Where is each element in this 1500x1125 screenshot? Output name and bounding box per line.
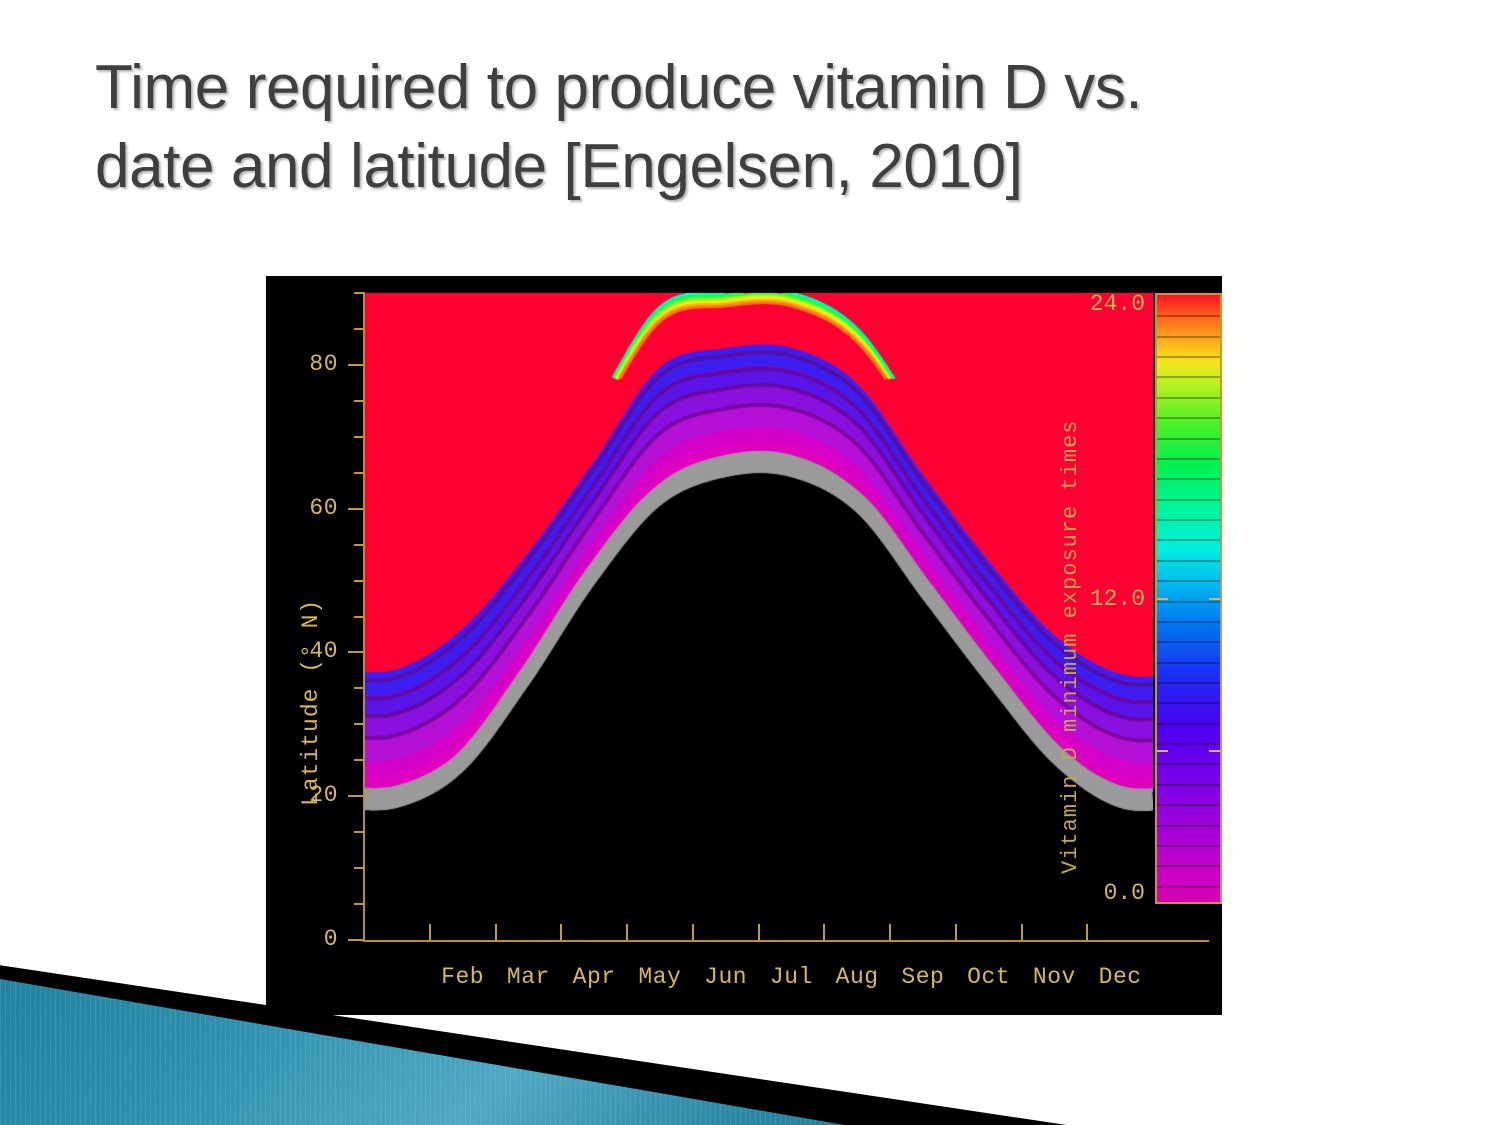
colorbar-level-line xyxy=(1157,723,1220,725)
colorbar-level-line xyxy=(1157,743,1220,745)
y-axis-major-tick xyxy=(348,939,364,941)
colorbar-tick xyxy=(1209,598,1220,600)
colorbar-level-line xyxy=(1157,784,1220,786)
y-axis-major-tick xyxy=(348,651,364,653)
colorbar-level-line xyxy=(1157,804,1220,806)
colorbar-level-line xyxy=(1157,621,1220,623)
y-axis-tick-label: 80 xyxy=(266,351,338,377)
colorbar-level-line xyxy=(1157,682,1220,684)
contour-field-canvas xyxy=(364,293,1153,940)
colorbar-level-line xyxy=(1157,499,1220,501)
x-axis-major-tick xyxy=(626,924,628,941)
x-axis-major-tick xyxy=(1021,924,1023,941)
colorbar-level-line xyxy=(1157,601,1220,603)
y-axis-major-tick xyxy=(348,364,364,366)
y-axis-minor-tick xyxy=(354,580,364,582)
x-axis-major-tick xyxy=(758,924,760,941)
y-axis-minor-tick xyxy=(354,544,364,546)
colorbar-level-line xyxy=(1157,417,1220,419)
colorbar-level-line xyxy=(1157,539,1220,541)
x-axis-tick-label: Dec xyxy=(1075,964,1165,990)
y-axis-minor-tick xyxy=(354,759,364,761)
colorbar-tick-label: 12.0 xyxy=(1025,586,1145,612)
y-axis-minor-tick xyxy=(354,400,364,402)
y-axis-minor-tick xyxy=(354,831,364,833)
colorbar-level-line xyxy=(1157,865,1220,867)
y-axis-tick-label: 0 xyxy=(266,926,338,952)
colorbar-title: Vitamin D minimum exposure times xyxy=(1058,420,1083,874)
x-axis-line xyxy=(363,940,1209,942)
y-axis-minor-tick xyxy=(354,867,364,869)
colorbar-level-line xyxy=(1157,845,1220,847)
colorbar-tick xyxy=(1157,750,1168,752)
y-axis-minor-tick xyxy=(354,723,364,725)
colorbar-level-line xyxy=(1157,763,1220,765)
contour-plot-area xyxy=(364,293,1153,940)
colorbar-level-line xyxy=(1157,825,1220,827)
presentation-slide: Time required to produce vitamin D vs. d… xyxy=(0,0,1500,1125)
y-axis-minor-tick xyxy=(354,687,364,689)
x-axis-major-tick xyxy=(560,924,562,941)
page-title: Time required to produce vitamin D vs. d… xyxy=(95,48,1425,207)
x-axis-major-tick xyxy=(495,924,497,941)
y-axis-title: Latitude (° N) xyxy=(298,599,324,806)
x-axis-major-tick xyxy=(1086,924,1088,941)
y-axis-major-tick xyxy=(348,795,364,797)
colorbar-level-line xyxy=(1157,438,1220,440)
colorbar-level-line xyxy=(1157,478,1220,480)
colorbar-tick-label: 24.0 xyxy=(1025,291,1145,317)
x-axis-major-tick xyxy=(429,924,431,941)
x-axis-major-tick xyxy=(692,924,694,941)
x-axis-major-tick xyxy=(955,924,957,941)
colorbar-level-line xyxy=(1157,662,1220,664)
y-axis-major-tick xyxy=(348,508,364,510)
y-axis-minor-tick xyxy=(354,328,364,330)
y-axis-minor-tick xyxy=(354,903,364,905)
colorbar-level-line xyxy=(1157,315,1220,317)
x-axis-major-tick xyxy=(823,924,825,941)
colorbar-level-line xyxy=(1157,336,1220,338)
colorbar-level-line xyxy=(1157,560,1220,562)
colorbar-level-line xyxy=(1157,641,1220,643)
colorbar-level-line xyxy=(1157,519,1220,521)
colorbar-tick xyxy=(1209,750,1220,752)
vitamin-d-contour-figure: 020406080 FebMarAprMayJunJulAugSepOctNov… xyxy=(266,276,1222,1015)
colorbar-tick-label: 0.0 xyxy=(1025,880,1145,906)
x-axis-major-tick xyxy=(889,924,891,941)
y-axis-minor-tick xyxy=(354,436,364,438)
y-axis-minor-tick xyxy=(354,292,364,294)
colorbar-level-line xyxy=(1157,702,1220,704)
y-axis-tick-label: 60 xyxy=(266,495,338,521)
colorbar-level-line xyxy=(1157,458,1220,460)
y-axis-minor-tick xyxy=(354,616,364,618)
colorbar-tick xyxy=(1157,598,1168,600)
colorbar-level-line xyxy=(1157,356,1220,358)
colorbar-level-line xyxy=(1157,886,1220,888)
colorbar-level-line xyxy=(1157,376,1220,378)
colorbar-level-line xyxy=(1157,397,1220,399)
colorbar-level-line xyxy=(1157,580,1220,582)
y-axis-minor-tick xyxy=(354,472,364,474)
